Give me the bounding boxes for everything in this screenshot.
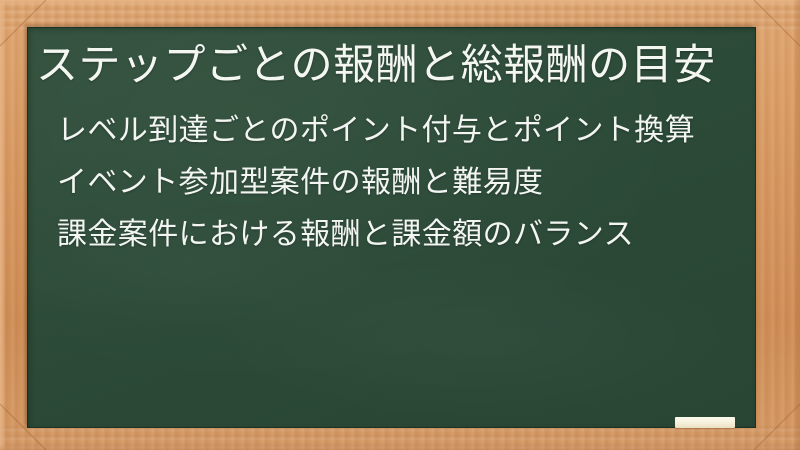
chalkboard-surface: ステップごとの報酬と総報酬の目安 レベル到達ごとのポイント付与とポイント換算 イ…	[27, 27, 756, 428]
bullet-item-3: 課金案件における報酬と課金額のバランス	[57, 209, 747, 261]
frame-highlight-left	[0, 0, 6, 450]
frame-highlight-top	[0, 0, 800, 5]
slide-canvas: ステップごとの報酬と総報酬の目安 レベル到達ごとのポイント付与とポイント換算 イ…	[0, 0, 800, 450]
board-content: ステップごとの報酬と総報酬の目安 レベル到達ごとのポイント付与とポイント換算 イ…	[27, 27, 756, 428]
bullet-item-1: レベル到達ごとのポイント付与とポイント換算	[57, 105, 747, 157]
chalk-stick-icon	[675, 417, 735, 428]
frame-shadow-right	[793, 0, 800, 450]
frame-shadow-bottom	[0, 444, 800, 450]
bullet-list: レベル到達ごとのポイント付与とポイント換算 イベント参加型案件の報酬と難易度 課…	[57, 105, 747, 261]
slide-title: ステップごとの報酬と総報酬の目安	[36, 39, 742, 91]
bullet-item-2: イベント参加型案件の報酬と難易度	[57, 157, 747, 209]
